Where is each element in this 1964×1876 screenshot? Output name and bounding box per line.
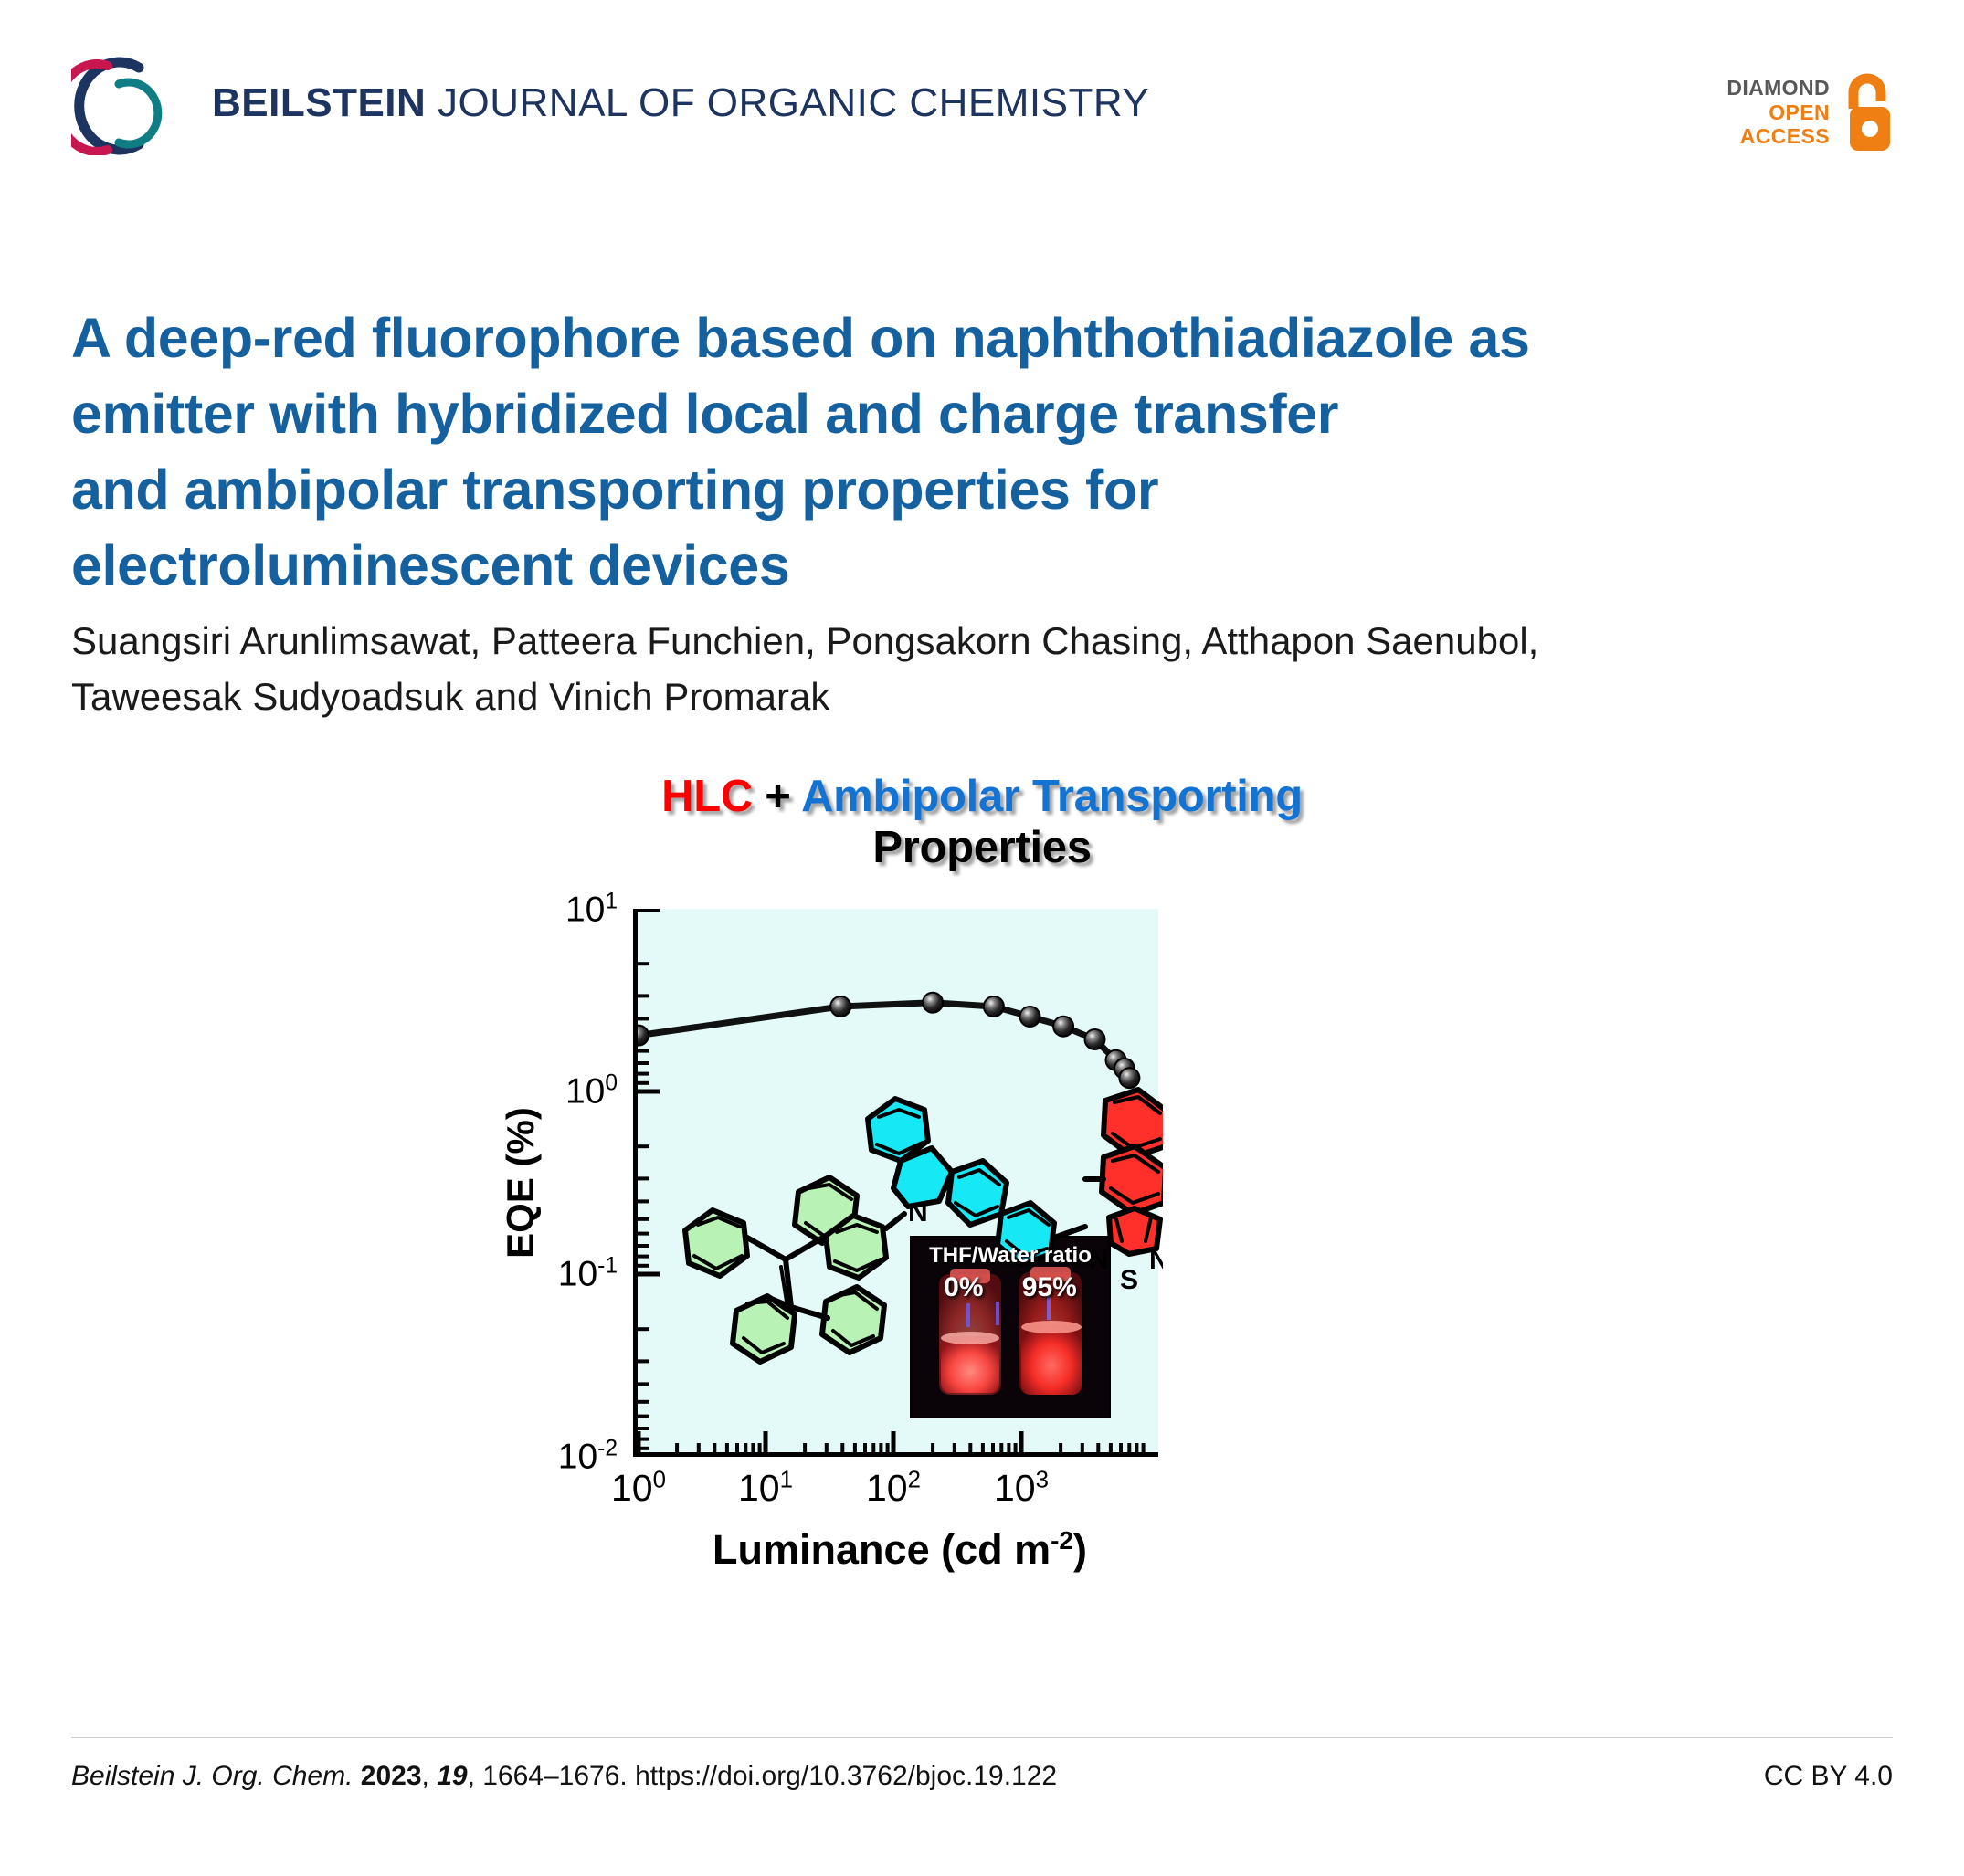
y-tick-label-3: 10-2: [558, 1437, 618, 1478]
diamond-open-access-badge: DIAMOND OPEN ACCESS: [1713, 62, 1895, 163]
title-line-3: and ambipolar transporting properties fo…: [71, 452, 1789, 528]
citation-volume: 19: [437, 1761, 467, 1791]
citation-pages: 1664–1676.: [482, 1761, 628, 1791]
open-access-line-open: OPEN: [1726, 100, 1830, 125]
inset-value-left: 0%: [944, 1272, 983, 1303]
title-line-4: electroluminescent devices: [71, 528, 1789, 604]
y-tick-label-1: 100: [565, 1071, 618, 1112]
y-axis-title: EQE (%): [499, 1107, 543, 1259]
x-tick-label-0: 100: [611, 1467, 666, 1510]
inset-value-right: 95%: [1022, 1272, 1077, 1303]
x-tick-exp-1: 1: [780, 1467, 793, 1492]
open-access-line-access: ACCESS: [1726, 124, 1830, 149]
eqe-luminance-plot: N: [633, 909, 1158, 1457]
x-tick-exp-3: 3: [1036, 1467, 1049, 1492]
citation-year: 2023: [361, 1761, 422, 1791]
x-axis-title: Luminance (cd m-2): [713, 1526, 1087, 1574]
y-tick-exp-1: 0: [605, 1071, 618, 1096]
journal-wordmark-bold: BEILSTEIN: [212, 80, 426, 125]
x-axis-title-exponent: -2: [1051, 1526, 1073, 1555]
citation-journal: Beilstein J. Org. Chem.: [71, 1761, 353, 1791]
citation-doi-link[interactable]: https://doi.org/10.3762/bjoc.19.122: [635, 1761, 1057, 1791]
headline-part-plus: +: [753, 772, 801, 821]
author-line-1: Suangsiri Arunlimsawat, Patteera Funchie…: [71, 614, 1807, 669]
graphical-abstract-headline: HLC + Ambipolar TransportingProperties: [525, 772, 1439, 874]
inset-caption: THF/Water ratio: [912, 1243, 1109, 1269]
journal-wordmark: BEILSTEIN JOURNAL OF ORGANIC CHEMISTRY: [212, 80, 1149, 126]
open-padlock-icon: [1839, 70, 1895, 154]
title-line-2: emitter with hybridized local and charge…: [71, 376, 1789, 452]
molecule-structure-illustration: N: [638, 909, 1163, 1457]
beilstein-triple-arc-logo-icon: [71, 57, 170, 155]
headline-part-ambipolar: Ambipolar Transporting: [801, 772, 1303, 821]
headline-part-properties: Properties: [525, 823, 1439, 874]
footer-citation: Beilstein J. Org. Chem. 2023, 19, 1664–1…: [71, 1761, 1057, 1792]
graphical-abstract: HLC + Ambipolar TransportingProperties: [525, 772, 1439, 1694]
article-title: A deep-red fluorophore based on naphthot…: [71, 300, 1789, 604]
y-tick-exp-0: 1: [605, 890, 618, 914]
headline-part-hlc: HLC: [661, 772, 753, 821]
inset-value-group: 0% 95%: [912, 1272, 1109, 1303]
author-line-2: Taweesak Sudyoadsuk and Vinich Promarak: [71, 669, 1807, 725]
y-tick-exp-2: -1: [597, 1254, 618, 1279]
open-access-label-group: DIAMOND OPEN ACCESS: [1726, 76, 1830, 149]
page-masthead: BEILSTEIN JOURNAL OF ORGANIC CHEMISTRY D…: [0, 0, 1964, 174]
title-line-1: A deep-red fluorophore based on naphthot…: [71, 300, 1789, 376]
footer-divider: [71, 1737, 1893, 1738]
y-tick-exp-3: -2: [597, 1437, 618, 1461]
svg-text:N: N: [1149, 1245, 1163, 1275]
x-tick-exp-0: 0: [653, 1467, 666, 1492]
footer-license: CC BY 4.0: [1764, 1761, 1893, 1792]
x-tick-label-1: 101: [738, 1467, 793, 1510]
y-tick-label-2: 10-1: [558, 1254, 618, 1295]
svg-text:S: S: [1120, 1265, 1138, 1295]
x-tick-exp-2: 2: [908, 1467, 921, 1492]
x-axis-title-base: Luminance (cd m: [713, 1526, 1051, 1573]
x-axis-title-tail: ): [1073, 1526, 1087, 1573]
x-tick-label-2: 102: [866, 1467, 921, 1510]
open-access-line-diamond: DIAMOND: [1726, 76, 1830, 100]
journal-wordmark-light: JOURNAL OF ORGANIC CHEMISTRY: [426, 80, 1149, 125]
article-authors: Suangsiri Arunlimsawat, Patteera Funchie…: [71, 614, 1807, 725]
x-tick-label-3: 103: [994, 1467, 1049, 1510]
y-tick-label-0: 101: [565, 890, 618, 931]
